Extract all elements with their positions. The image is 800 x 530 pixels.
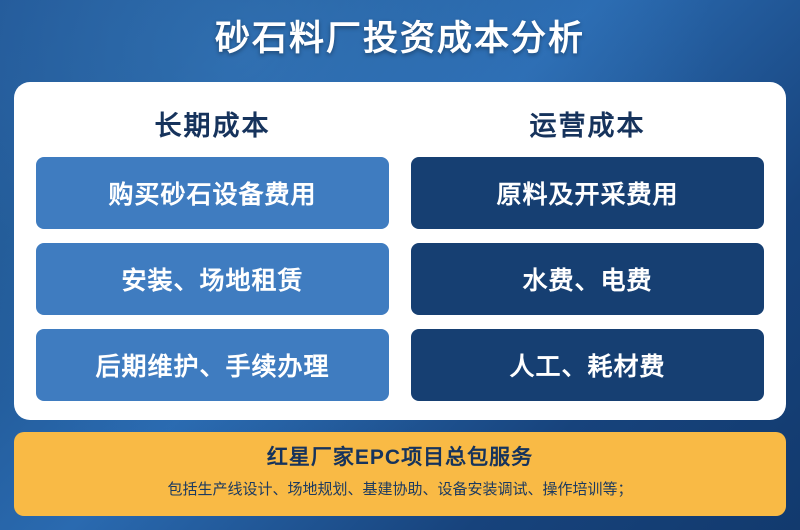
cell-long-term-2: 安装、场地租赁 bbox=[36, 243, 389, 315]
cell-operating-3: 人工、耗材费 bbox=[411, 329, 764, 401]
table-row: 后期维护、手续办理 人工、耗材费 bbox=[36, 329, 764, 401]
table-row: 购买砂石设备费用 原料及开采费用 bbox=[36, 157, 764, 229]
column-header-long-term: 长期成本 bbox=[36, 96, 389, 157]
cost-rows: 购买砂石设备费用 原料及开采费用 安装、场地租赁 水费、电费 后期维护、手续办理… bbox=[36, 157, 764, 401]
poster-root: 砂石料厂投资成本分析 长期成本 运营成本 购买砂石设备费用 原料及开采费用 安装… bbox=[0, 0, 800, 530]
table-row: 安装、场地租赁 水费、电费 bbox=[36, 243, 764, 315]
cell-operating-2: 水费、电费 bbox=[411, 243, 764, 315]
column-headers: 长期成本 运营成本 bbox=[36, 96, 764, 157]
cell-long-term-1: 购买砂石设备费用 bbox=[36, 157, 389, 229]
cell-long-term-3: 后期维护、手续办理 bbox=[36, 329, 389, 401]
footer-title: 红星厂家EPC项目总包服务 bbox=[26, 442, 774, 474]
page-title: 砂石料厂投资成本分析 bbox=[0, 0, 800, 60]
footer-subtitle: 包括生产线设计、场地规划、基建协助、设备安装调试、操作培训等； bbox=[26, 478, 774, 502]
cost-table-card: 长期成本 运营成本 购买砂石设备费用 原料及开采费用 安装、场地租赁 水费、电费… bbox=[14, 82, 786, 420]
footer-banner: 红星厂家EPC项目总包服务 包括生产线设计、场地规划、基建协助、设备安装调试、操… bbox=[14, 432, 786, 516]
cell-operating-1: 原料及开采费用 bbox=[411, 157, 764, 229]
column-header-operating: 运营成本 bbox=[411, 96, 764, 157]
